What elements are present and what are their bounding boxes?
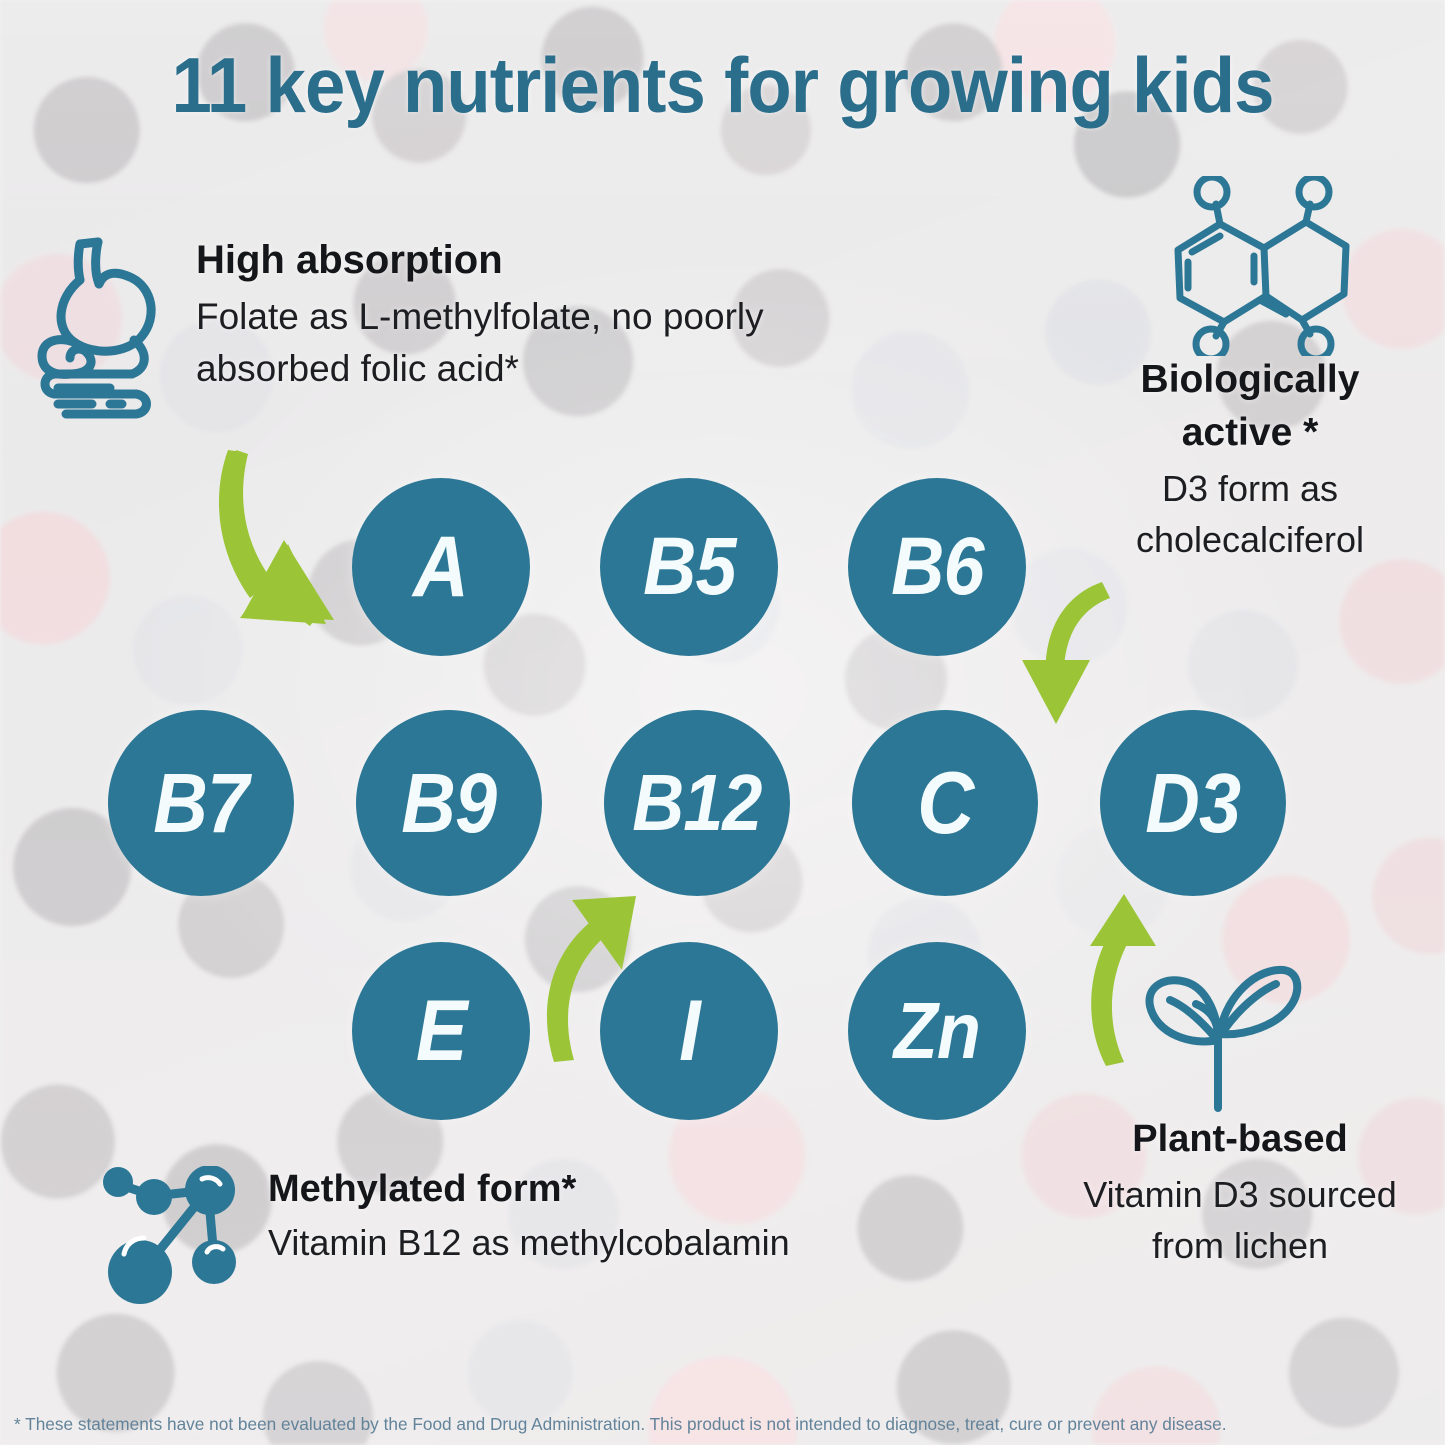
nutrient-bubble-b12: B12: [604, 710, 790, 896]
nutrient-bubble-label: B6: [891, 526, 984, 608]
molecular-bonds-icon: [96, 1166, 256, 1306]
arrow-to-vitamin-d3-bottom: [1072, 890, 1182, 1068]
feature-heading-bioactive-line1: Biologically: [1066, 358, 1434, 402]
feature-heading-methylated-form: Methylated form*: [268, 1168, 928, 1211]
feature-heading-bioactive-line2: active *: [1066, 411, 1434, 455]
molecule-structure-icon: [1158, 176, 1358, 356]
feature-body-methylated-form: Vitamin B12 as methylcobalamin: [268, 1217, 928, 1268]
feature-body-plant-based-line2: from lichen: [1040, 1220, 1440, 1271]
fda-disclaimer: * These statements have not been evaluat…: [14, 1414, 1410, 1435]
nutrient-bubble-label: A: [413, 524, 468, 610]
arrow-to-vitamin-d3-top: [1016, 578, 1146, 730]
nutrient-bubble-i: I: [600, 942, 778, 1120]
digestive-system-icon: [36, 236, 186, 426]
feature-biologically-active: Biologically active * D3 form as choleca…: [1066, 358, 1434, 566]
page-title: 11 key nutrients for growing kids: [51, 46, 1395, 124]
feature-body-bioactive-line2: cholecalciferol: [1066, 514, 1434, 565]
feature-body-plant-based-line1: Vitamin D3 sourced: [1040, 1169, 1440, 1220]
nutrient-bubble-d3: D3: [1100, 710, 1286, 896]
nutrient-bubble-b9: B9: [356, 710, 542, 896]
feature-body-high-absorption-line1: Folate as L-methylfolate, no poorly: [196, 291, 896, 344]
nutrient-bubble-b7: B7: [108, 710, 294, 896]
content-layer: 11 key nutrients for growing kids: [0, 0, 1445, 1445]
nutrient-bubble-c: C: [852, 710, 1038, 896]
nutrient-bubble-label: B5: [643, 526, 736, 608]
feature-high-absorption: High absorption Folate as L-methylfolate…: [196, 238, 896, 396]
nutrient-bubble-label: E: [416, 988, 467, 1074]
feature-plant-based: Plant-based Vitamin D3 sourced from lich…: [1040, 1118, 1440, 1271]
nutrient-bubble-zn: Zn: [848, 942, 1026, 1120]
feature-heading-high-absorption: High absorption: [196, 238, 896, 283]
nutrient-bubble-label: B7: [154, 761, 249, 845]
arrow-to-vitamin-a: [206, 436, 356, 646]
feature-body-high-absorption-line2: absorbed folic acid*: [196, 343, 896, 396]
feature-heading-plant-based: Plant-based: [1040, 1118, 1440, 1161]
nutrient-bubble-b5: B5: [600, 478, 778, 656]
nutrient-bubble-label: D3: [1146, 761, 1241, 845]
nutrient-bubble-label: B12: [632, 763, 761, 843]
nutrient-bubble-label: Zn: [894, 991, 980, 1071]
nutrient-bubble-label: C: [917, 759, 973, 847]
nutrient-bubble-b6: B6: [848, 478, 1026, 656]
feature-body-bioactive-line1: D3 form as: [1066, 463, 1434, 514]
nutrient-bubble-label: B9: [402, 761, 497, 845]
nutrient-bubble-label: I: [679, 988, 700, 1074]
nutrient-bubble-a: A: [352, 478, 530, 656]
infographic-canvas: 11 key nutrients for growing kids: [0, 0, 1445, 1445]
nutrient-bubble-e: E: [352, 942, 530, 1120]
feature-methylated-form: Methylated form* Vitamin B12 as methylco…: [268, 1168, 928, 1268]
